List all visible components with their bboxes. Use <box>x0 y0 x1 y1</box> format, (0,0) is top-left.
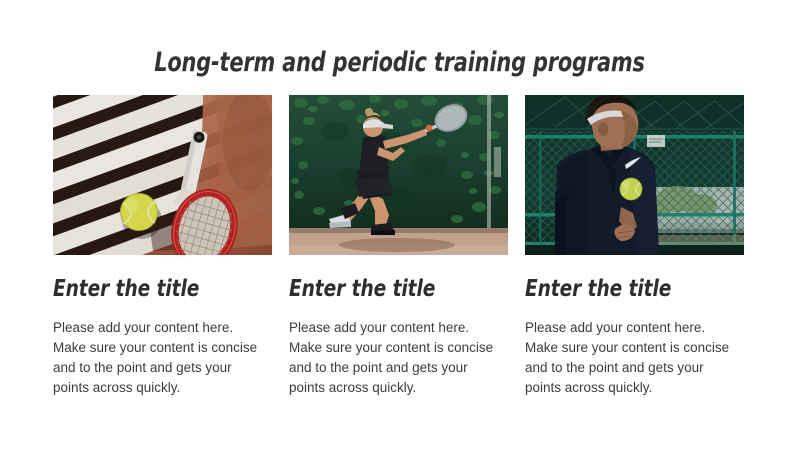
female-player-hitting-forehand-image <box>289 95 508 255</box>
card-3-image[interactable] <box>525 95 744 255</box>
card-3-body: Please add your content here. Make sure … <box>525 318 735 398</box>
card-3[interactable]: Enter the title Please add your content … <box>525 95 744 398</box>
cards-row: Enter the title Please add your content … <box>53 95 746 398</box>
slide-canvas: Long-term and periodic training programs <box>0 0 799 450</box>
card-2-body: Please add your content here. Make sure … <box>289 318 499 398</box>
card-1[interactable]: Enter the title Please add your content … <box>53 95 272 398</box>
page-title: Long-term and periodic training programs <box>56 47 743 78</box>
card-2-image[interactable] <box>289 95 508 255</box>
tennis-racket-and-ball-on-white-bench-image <box>53 95 272 255</box>
card-3-title: Enter the title <box>525 277 722 302</box>
male-player-holding-tennis-ball-image <box>525 95 744 255</box>
card-1-title: Enter the title <box>53 277 250 302</box>
card-1-image[interactable] <box>53 95 272 255</box>
card-1-body: Please add your content here. Make sure … <box>53 318 263 398</box>
card-2-title: Enter the title <box>289 277 486 302</box>
card-2[interactable]: Enter the title Please add your content … <box>289 95 508 398</box>
